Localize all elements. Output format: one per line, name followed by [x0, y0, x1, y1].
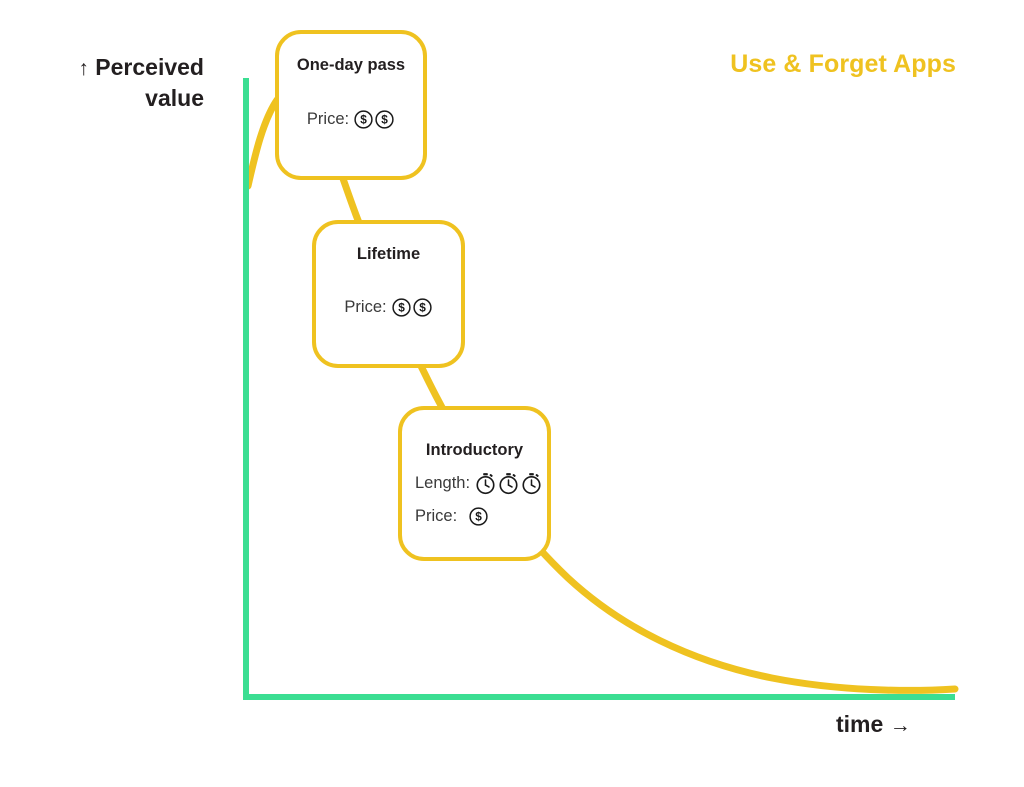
- svg-text:$: $: [381, 113, 388, 127]
- card-title: Introductory: [402, 441, 547, 460]
- svg-text:$: $: [419, 301, 426, 315]
- stopwatch-icon: [474, 472, 497, 495]
- callout-card-introductory[interactable]: Introductory Length:: [398, 406, 551, 561]
- card-row-label: Price:: [307, 110, 349, 129]
- dollar-coin-icon: $: [374, 109, 395, 130]
- card-price-row: Price: $ $: [316, 297, 461, 318]
- stopwatch-icon: [497, 472, 520, 495]
- card-title: One-day pass: [279, 56, 423, 75]
- plot-svg: [0, 0, 1024, 787]
- stopwatch-icon-group: [474, 472, 543, 495]
- stopwatch-icon: [520, 472, 543, 495]
- dollar-coin-icon: $: [412, 297, 433, 318]
- callout-card-one-day-pass[interactable]: One-day pass Price: $ $: [275, 30, 427, 180]
- callout-card-lifetime[interactable]: Lifetime Price: $ $: [312, 220, 465, 368]
- dollar-coin-icon-group: $: [468, 506, 489, 527]
- card-row-label: Length:: [415, 474, 470, 493]
- svg-text:$: $: [398, 301, 405, 315]
- dollar-coin-icon: $: [468, 506, 489, 527]
- card-price-row: Price: $: [402, 506, 547, 527]
- dollar-coin-icon-group: $ $: [391, 297, 433, 318]
- svg-text:$: $: [475, 510, 482, 524]
- chart-canvas: Use & Forget Apps ↑ Perceived value time…: [0, 0, 1024, 787]
- dollar-coin-icon: $: [353, 109, 374, 130]
- card-length-row: Length:: [402, 472, 547, 495]
- card-price-row: Price: $ $: [279, 109, 423, 130]
- dollar-coin-icon-group: $ $: [353, 109, 395, 130]
- dollar-coin-icon: $: [391, 297, 412, 318]
- svg-text:$: $: [360, 113, 367, 127]
- card-title: Lifetime: [316, 245, 461, 264]
- card-row-label: Price:: [344, 298, 386, 317]
- card-row-label: Price:: [415, 507, 457, 526]
